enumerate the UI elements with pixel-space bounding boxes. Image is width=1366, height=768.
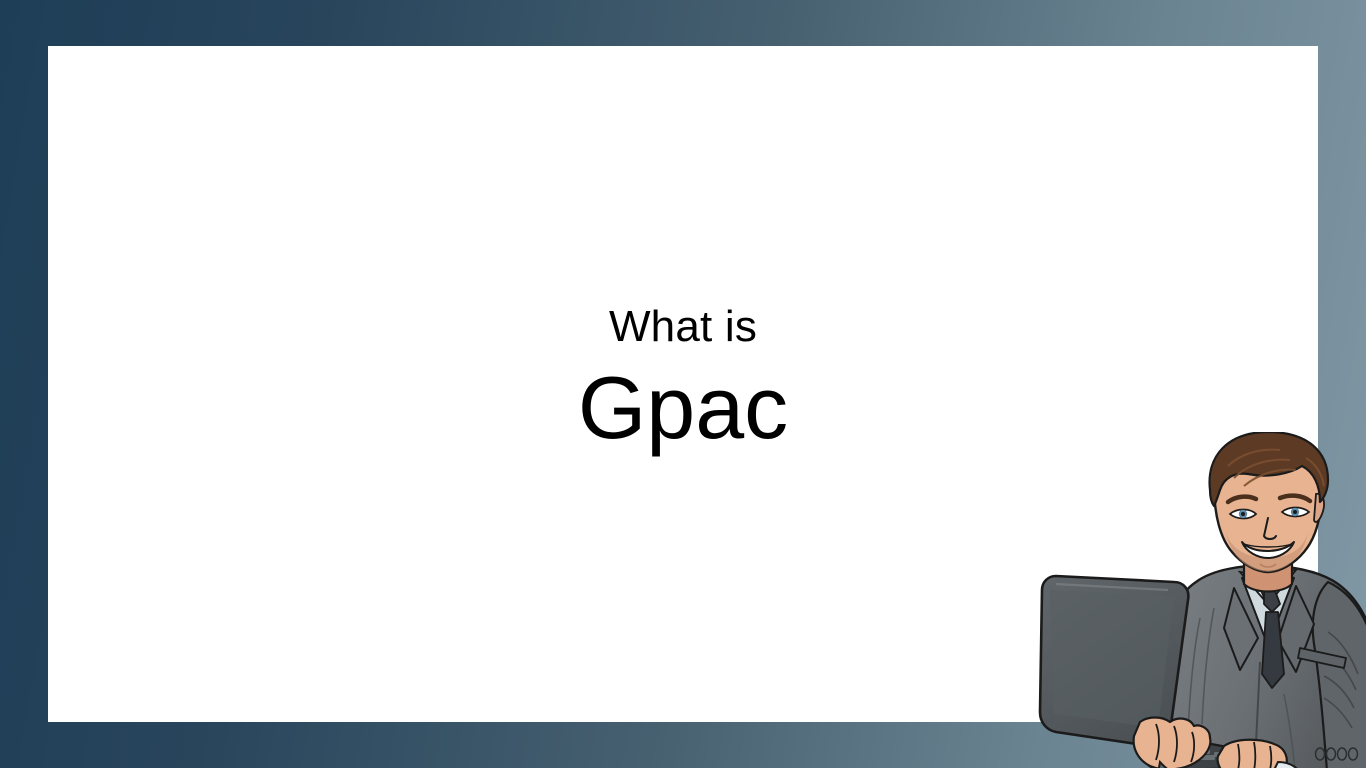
slide-title-block: What is Gpac [48,300,1318,460]
slide-root: What is Gpac [0,0,1366,768]
page-title-prefix: What is [48,300,1318,354]
page-title-main: Gpac [48,356,1318,460]
